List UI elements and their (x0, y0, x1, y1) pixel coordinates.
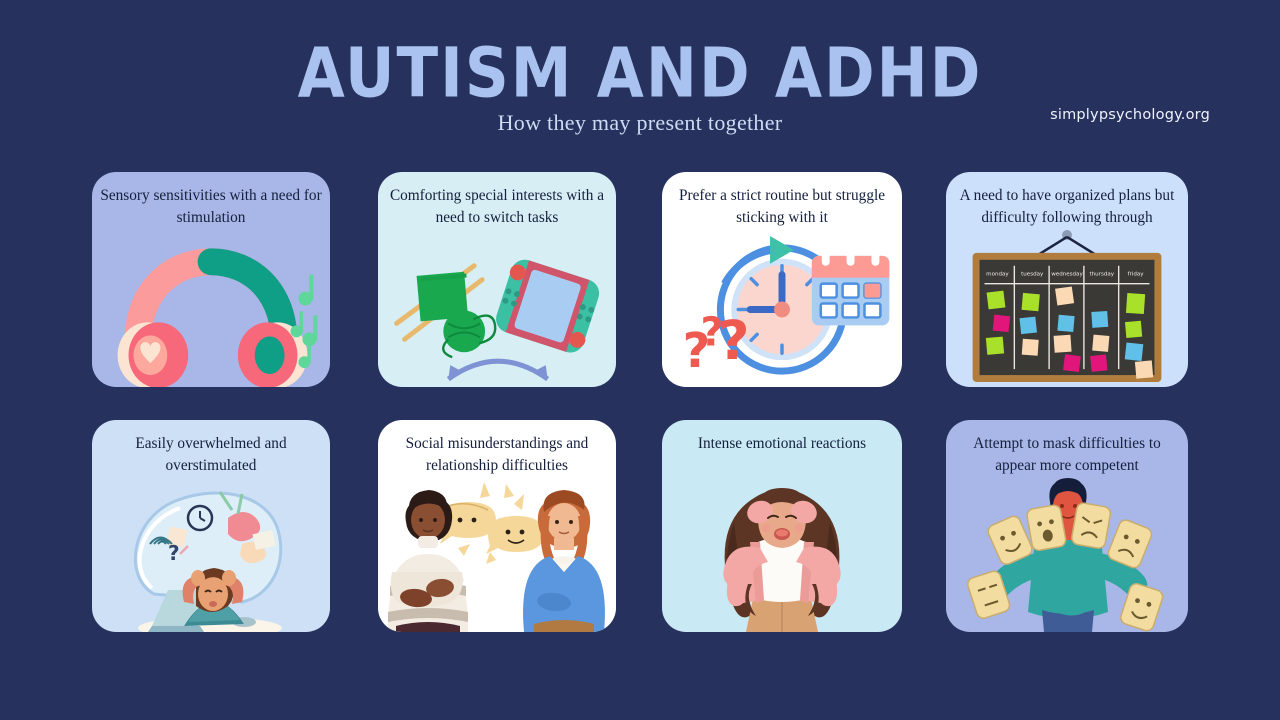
card-intense-emotions: Intense emotional reactions (662, 420, 902, 632)
knitting-and-console-icon (378, 228, 616, 387)
card-title: Intense emotional reactions (670, 433, 894, 455)
headphones-icon (92, 228, 330, 387)
svg-text:?: ? (718, 309, 749, 372)
board-day-label: friday (1128, 272, 1145, 278)
svg-text:?: ? (168, 541, 180, 565)
card-organized-plans: A need to have organized plans but diffi… (946, 172, 1188, 387)
card-title: A need to have organized plans but diffi… (954, 185, 1180, 228)
board-day-label: thursday (1089, 272, 1114, 278)
distressed-woman-icon (662, 476, 902, 632)
infographic-page: AUTISM AND ADHD How they may present tog… (0, 0, 1280, 720)
card-masking: Attempt to mask difficulties to appear m… (946, 420, 1188, 632)
header: AUTISM AND ADHD How they may present tog… (0, 0, 1280, 160)
clock-calendar-icon: ? ? ? (662, 228, 902, 387)
card-title: Comforting special interests with a need… (386, 185, 608, 228)
card-title: Attempt to mask difficulties to appear m… (954, 433, 1180, 476)
planning-board-icon: monday tuesday wednesday thursday friday (946, 228, 1188, 387)
card-easily-overwhelmed: Easily overwhelmed and overstimulated ? (92, 420, 330, 632)
card-sensory-sensitivities: Sensory sensitivities with a need for st… (92, 172, 330, 387)
card-title: Easily overwhelmed and overstimulated (100, 433, 322, 476)
card-strict-routine: Prefer a strict routine but struggle sti… (662, 172, 902, 387)
card-special-interests: Comforting special interests with a need… (378, 172, 616, 387)
board-day-label: wednesday (1051, 272, 1083, 278)
card-title: Social misunderstandings and relationshi… (386, 433, 608, 476)
site-watermark: simplypsychology.org (1050, 107, 1210, 123)
board-day-label: monday (986, 272, 1009, 278)
card-title: Prefer a strict routine but struggle sti… (670, 185, 894, 228)
two-people-conflict-icon (378, 476, 616, 632)
masks-person-icon (946, 476, 1188, 632)
overwhelmed-person-icon: ? (92, 476, 330, 632)
page-title: AUTISM AND ADHD (0, 34, 1280, 114)
card-social-misunderstandings: Social misunderstandings and relationshi… (378, 420, 616, 632)
card-title: Sensory sensitivities with a need for st… (100, 185, 322, 228)
board-day-label: tuesday (1021, 272, 1044, 278)
